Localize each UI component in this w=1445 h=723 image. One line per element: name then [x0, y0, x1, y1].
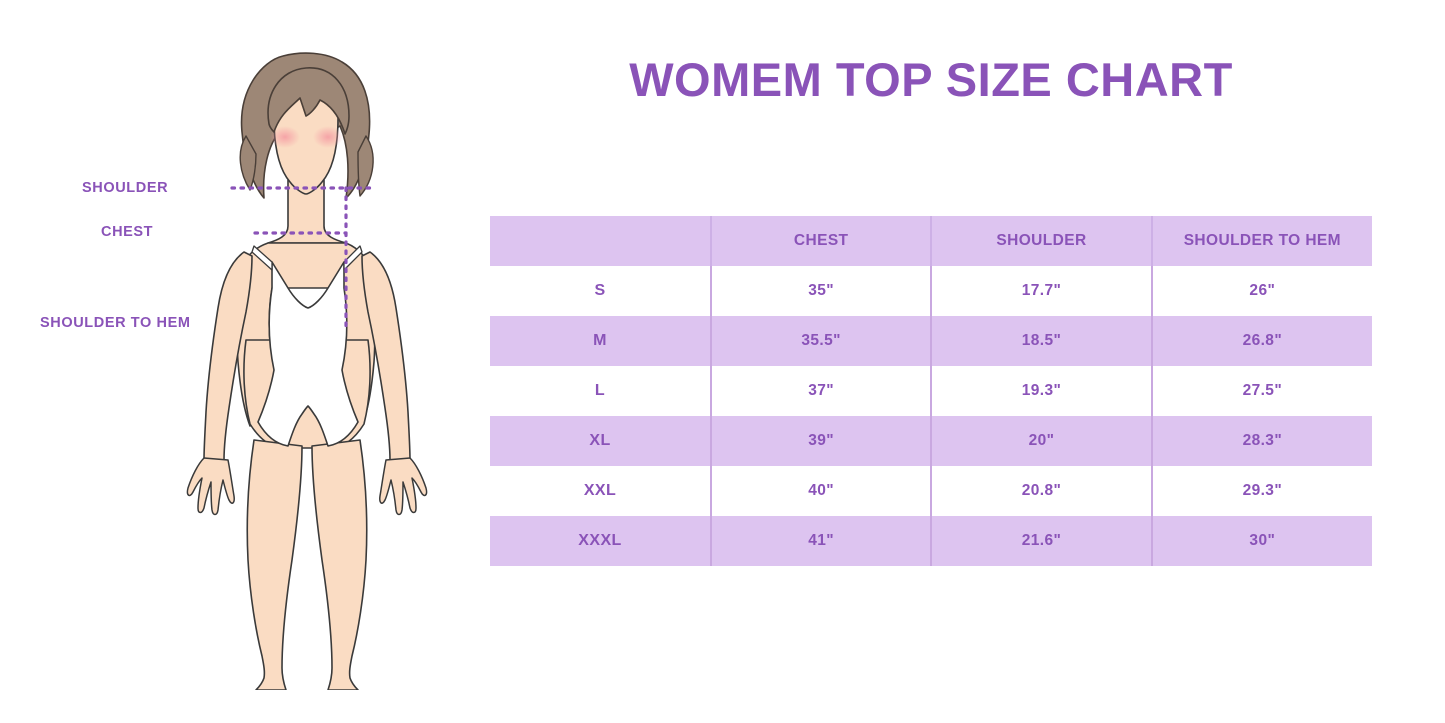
leg-left: [247, 440, 302, 690]
label-chest: CHEST: [101, 224, 153, 240]
cell-chest: 35.5": [711, 316, 931, 366]
cell-shoulder: 17.7": [931, 266, 1151, 316]
leg-right: [312, 440, 367, 690]
cell-shoulder-to-hem: 26.8": [1152, 316, 1372, 366]
table-row: XXXL 41" 21.6" 30": [490, 516, 1372, 566]
hand-right: [380, 458, 427, 515]
table-row: S 35" 17.7" 26": [490, 266, 1372, 316]
table-row: M 35.5" 18.5" 26.8": [490, 316, 1372, 366]
size-table-container: CHEST SHOULDER SHOULDER TO HEM S 35" 17.…: [490, 216, 1372, 568]
cell-chest: 37": [711, 366, 931, 416]
table-row: L 37" 19.3" 27.5": [490, 366, 1372, 416]
cell-shoulder-to-hem: 30": [1152, 516, 1372, 566]
header-shoulder-to-hem: SHOULDER TO HEM: [1152, 216, 1372, 266]
header-chest: CHEST: [711, 216, 931, 266]
cell-chest: 41": [711, 516, 931, 566]
header-shoulder: SHOULDER: [931, 216, 1151, 266]
cell-size: L: [490, 366, 711, 416]
cell-shoulder-to-hem: 26": [1152, 266, 1372, 316]
cell-size: XXL: [490, 466, 711, 516]
cell-size: M: [490, 316, 711, 366]
cell-chest: 40": [711, 466, 931, 516]
table-header-row: CHEST SHOULDER SHOULDER TO HEM: [490, 216, 1372, 266]
table-row: XL 39" 20" 28.3": [490, 416, 1372, 466]
blush-right: [313, 126, 343, 148]
cell-shoulder-to-hem: 28.3": [1152, 416, 1372, 466]
size-chart-page: WOMEM TOP SIZE CHART SHOULDER CHEST SHOU…: [0, 0, 1445, 723]
table-row: XXL 40" 20.8" 29.3": [490, 466, 1372, 516]
body-figure-illustration: [150, 40, 480, 690]
cell-shoulder: 21.6": [931, 516, 1151, 566]
cell-size: XL: [490, 416, 711, 466]
cell-shoulder: 20": [931, 416, 1151, 466]
cell-shoulder-to-hem: 27.5": [1152, 366, 1372, 416]
cell-shoulder: 19.3": [931, 366, 1151, 416]
figure-body-group: [187, 53, 426, 690]
cell-shoulder: 20.8": [931, 466, 1151, 516]
page-title: WOMEM TOP SIZE CHART: [490, 52, 1372, 107]
size-chart-table: CHEST SHOULDER SHOULDER TO HEM S 35" 17.…: [490, 216, 1372, 566]
cell-shoulder: 18.5": [931, 316, 1151, 366]
cell-chest: 39": [711, 416, 931, 466]
header-size: [490, 216, 711, 266]
cell-chest: 35": [711, 266, 931, 316]
hand-left: [187, 458, 234, 515]
cell-size: S: [490, 266, 711, 316]
cell-size: XXXL: [490, 516, 711, 566]
cell-shoulder-to-hem: 29.3": [1152, 466, 1372, 516]
